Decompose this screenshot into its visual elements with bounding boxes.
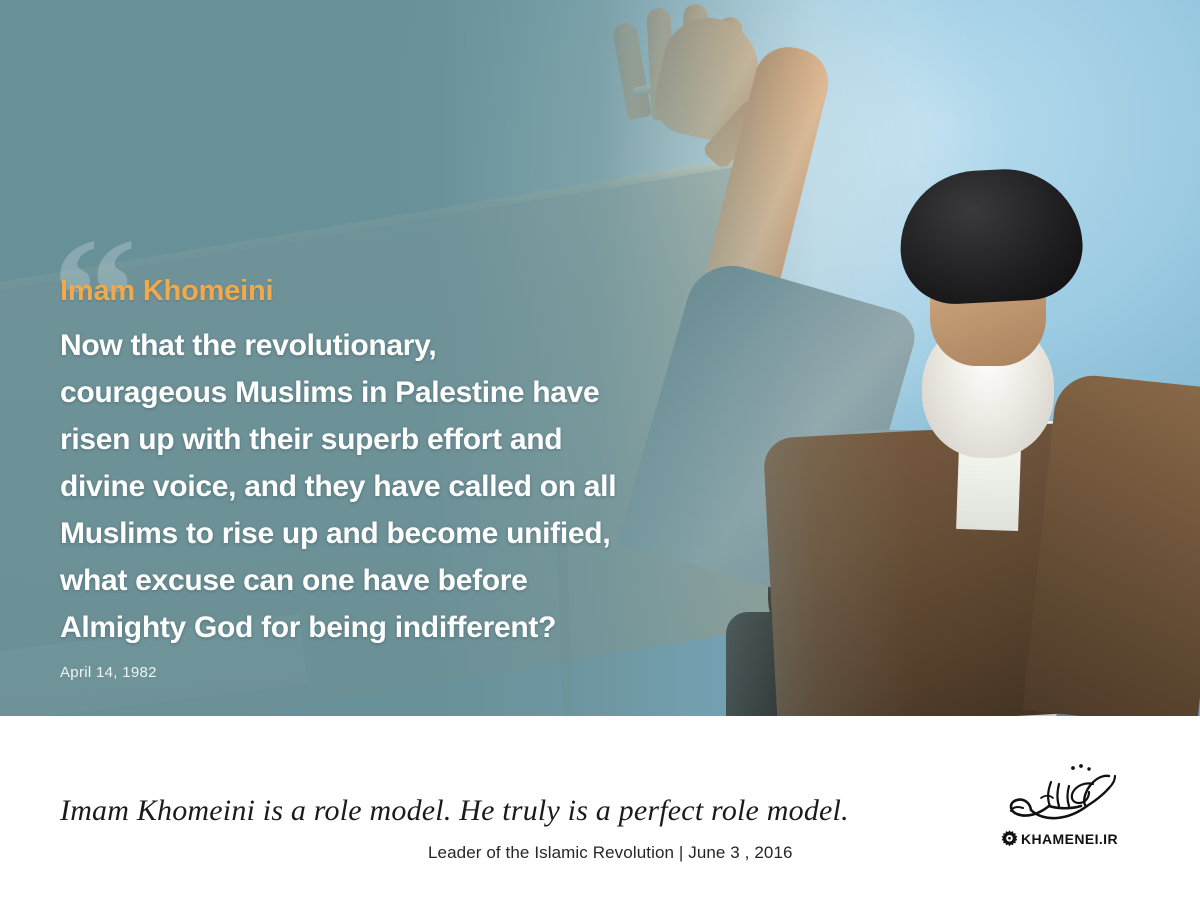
gear-icon [1001,830,1018,847]
quote-line: what excuse can one have before [60,557,660,604]
quote-line: divine voice, and they have called on al… [60,463,660,510]
footer-attribution: Leader of the Islamic Revolution | June … [428,843,793,863]
footer-quote: Imam Khomeini is a role model. He truly … [60,794,849,828]
speaker-name: Imam Khomeini [60,275,273,308]
quote-line: courageous Muslims in Palestine have [60,369,660,416]
khomeini-signature-icon [997,762,1125,828]
quote-line: Almighty God for being indifferent? [60,604,660,651]
quote-text-layer: “ Imam Khomeini Now that the revolutiona… [0,0,680,716]
brand-text: KHAMENEI.IR [1021,831,1118,847]
quote-date: April 14, 1982 [60,664,157,681]
quote-line: Muslims to rise up and become unified, [60,510,660,557]
quote-poster: “ Imam Khomeini Now that the revolutiona… [0,0,1200,905]
quote-body: Now that the revolutionary, courageous M… [60,322,660,651]
brandmark[interactable]: KHAMENEI.IR [1001,830,1118,847]
khamenei-logo[interactable]: KHAMENEI.IR [995,762,1155,867]
quote-line: Now that the revolutionary, [60,322,660,369]
quote-line: risen up with their superb effort and [60,416,660,463]
photo-band: “ Imam Khomeini Now that the revolutiona… [0,0,1200,716]
